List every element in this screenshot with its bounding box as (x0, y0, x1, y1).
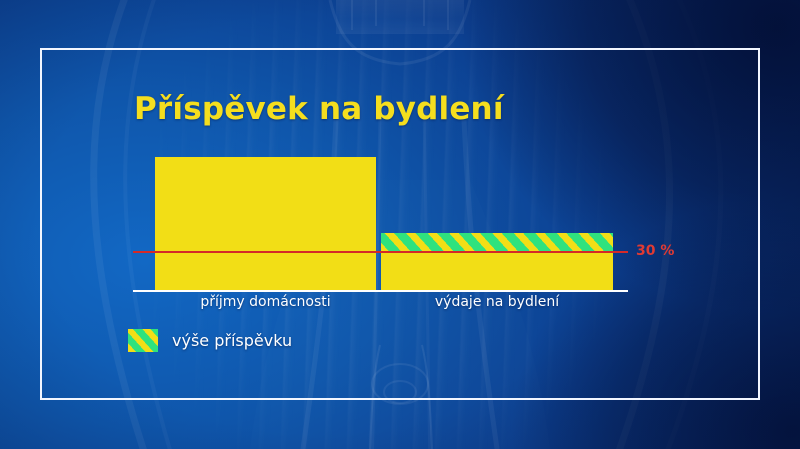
bar-vydaje-na-bydleni-base (381, 252, 613, 290)
legend-swatch-subsidy-icon (128, 329, 158, 352)
chart-baseline-axis (133, 290, 628, 292)
chart-legend: výše příspěvku (128, 329, 292, 352)
legend-label-subsidy: výše příspěvku (172, 331, 292, 350)
bar-vydaje-na-bydleni-subsidy (381, 233, 613, 253)
bar-chart: 30 % příjmy domácnosti výdaje na bydlení (0, 0, 800, 449)
axis-label-vydaje-na-bydleni: výdaje na bydlení (381, 294, 613, 310)
infographic-slide: Příspěvek na bydlení 30 % příjmy domácno… (0, 0, 800, 449)
threshold-label: 30 % (636, 243, 674, 259)
bar-prijmy-domacnosti (155, 157, 376, 290)
threshold-line-30-percent (133, 251, 628, 253)
axis-label-prijmy-domacnosti: příjmy domácnosti (155, 294, 376, 310)
